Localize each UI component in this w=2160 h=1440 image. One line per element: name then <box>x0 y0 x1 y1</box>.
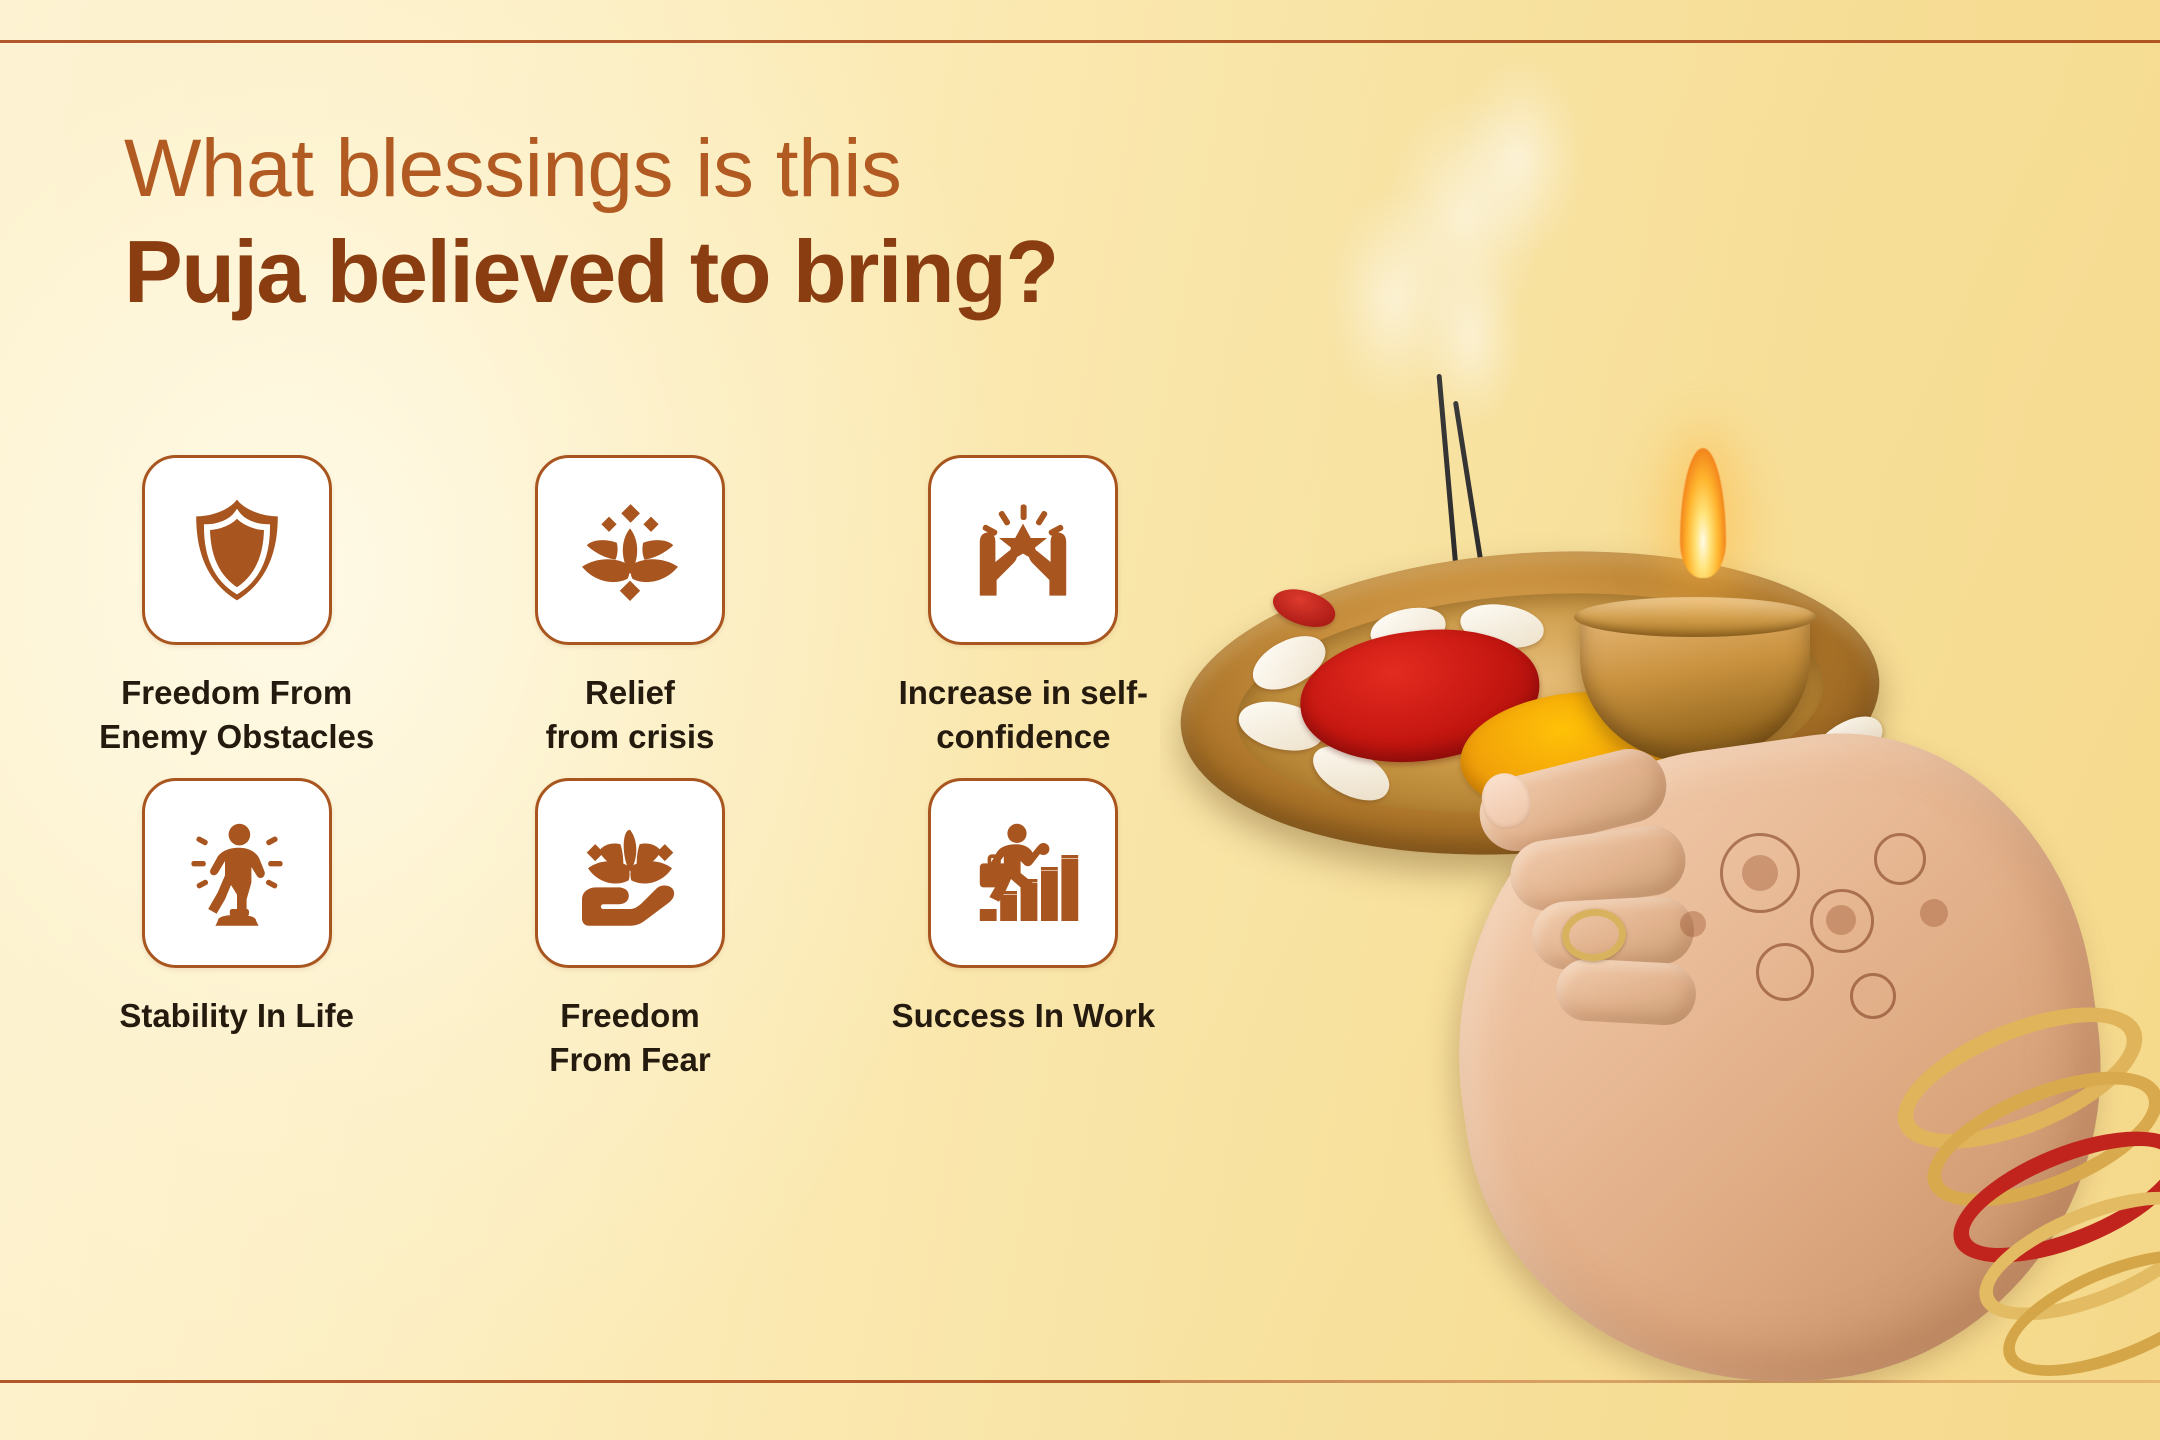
benefits-grid: Freedom From Enemy Obstacles <box>40 455 1220 1081</box>
benefit-label: Success In Work <box>892 994 1156 1038</box>
businessman-climbing-bar-chart-icon <box>963 813 1083 933</box>
benefit-label: Increase in self- confidence <box>899 671 1148 758</box>
benefit-icon-card[interactable] <box>142 778 332 968</box>
benefit-item[interactable]: Relief from crisis <box>433 455 826 758</box>
headline-line-1: What blessings is this <box>124 128 1304 210</box>
benefit-icon-card[interactable] <box>535 455 725 645</box>
diya-rim <box>1574 597 1816 637</box>
smoke-plume <box>1460 63 1580 253</box>
mehndi-motif <box>1756 943 1814 1001</box>
benefit-label: Stability In Life <box>119 994 354 1038</box>
smoke-plume <box>1420 253 1520 423</box>
mehndi-motif <box>1826 905 1856 935</box>
mehndi-motif <box>1920 899 1948 927</box>
benefit-label: Freedom From Fear <box>549 994 710 1081</box>
benefit-item[interactable]: Increase in self- confidence <box>827 455 1220 758</box>
lotus-flower-icon <box>570 490 690 610</box>
hand-holding-lotus-icon <box>570 813 690 933</box>
puja-thali-photo <box>1160 43 2160 1383</box>
benefit-icon-card[interactable] <box>928 455 1118 645</box>
mehndi-motif <box>1874 833 1926 885</box>
benefit-item[interactable]: Success In Work <box>827 778 1220 1081</box>
benefit-item[interactable]: Freedom From Enemy Obstacles <box>40 455 433 758</box>
benefit-item[interactable]: Stability In Life <box>40 778 433 1081</box>
person-standing-on-pedestal-icon <box>177 813 297 933</box>
mehndi-motif <box>1850 973 1896 1019</box>
benefit-label: Freedom From Enemy Obstacles <box>99 671 374 758</box>
benefit-icon-card[interactable] <box>535 778 725 968</box>
poster-root: What blessings is this Puja believed to … <box>0 0 2160 1440</box>
benefit-icon-card[interactable] <box>928 778 1118 968</box>
hands-holding-star-icon <box>963 490 1083 610</box>
mehndi-motif <box>1742 855 1778 891</box>
benefit-item[interactable]: Freedom From Fear <box>433 778 826 1081</box>
headline-line-2: Puja believed to bring? <box>124 228 1304 316</box>
benefit-icon-card[interactable] <box>142 455 332 645</box>
headline: What blessings is this Puja believed to … <box>124 128 1304 316</box>
mehndi-motif <box>1680 911 1706 937</box>
benefit-label: Relief from crisis <box>546 671 715 758</box>
little-finger <box>1554 957 1697 1026</box>
shield-icon <box>177 490 297 610</box>
